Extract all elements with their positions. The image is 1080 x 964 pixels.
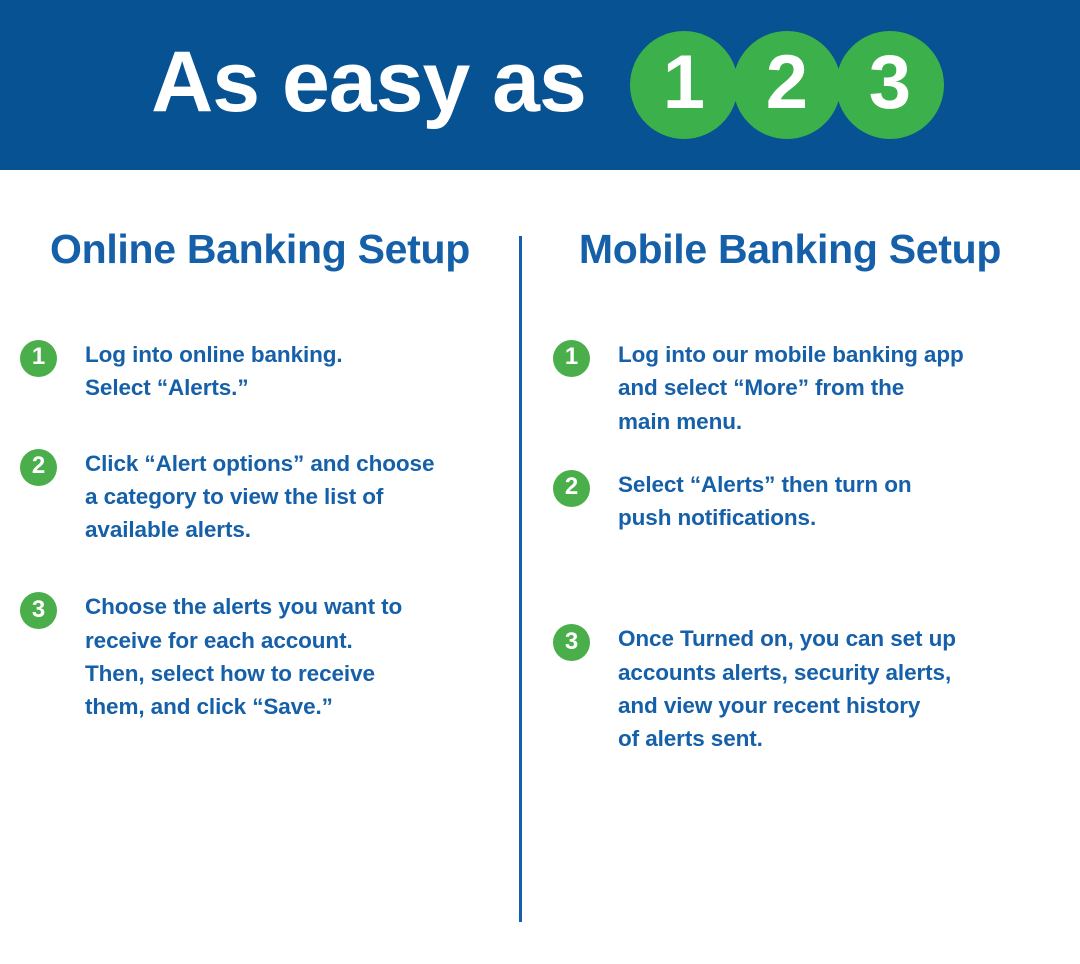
step-number-label: 2 <box>32 454 45 478</box>
step-item: 3 Once Turned on, you can set up account… <box>540 622 1040 755</box>
step-text: Log into our mobile banking app and sele… <box>618 338 1040 438</box>
online-banking-column: Online Banking Setup 1 Log into online b… <box>10 170 510 758</box>
mobile-banking-heading: Mobile Banking Setup <box>540 170 1040 274</box>
header-content: As easy as 1 2 3 <box>151 31 939 139</box>
header-banner: As easy as 1 2 3 <box>0 0 1080 170</box>
online-banking-heading: Online Banking Setup <box>10 170 510 274</box>
column-divider <box>519 236 522 922</box>
step-number-label: 1 <box>565 345 578 369</box>
page-title: As easy as <box>151 39 586 125</box>
step-item: 1 Log into our mobile banking app and se… <box>540 338 1040 438</box>
step-number-badge: 1 <box>553 340 590 377</box>
header-badge-3: 3 <box>836 31 944 139</box>
step-number-badge: 2 <box>20 449 57 486</box>
header-badge-1: 1 <box>630 31 738 139</box>
header-badge-2: 2 <box>733 31 841 139</box>
step-text: Log into online banking. Select “Alerts.… <box>85 338 510 405</box>
step-item: 1 Log into online banking. Select “Alert… <box>10 338 510 405</box>
step-number-label: 3 <box>32 598 45 622</box>
header-badge-2-label: 2 <box>766 45 808 121</box>
header-badge-3-label: 3 <box>869 45 911 121</box>
step-number-label: 3 <box>565 630 578 654</box>
step-text: Once Turned on, you can set up accounts … <box>618 622 1040 755</box>
step-text: Choose the alerts you want to receive fo… <box>85 590 510 723</box>
step-number-badge: 1 <box>20 340 57 377</box>
header-badge-1-label: 1 <box>663 45 705 121</box>
mobile-banking-steps: 1 Log into our mobile banking app and se… <box>540 338 1040 756</box>
step-number-badge: 3 <box>20 592 57 629</box>
step-item: 2 Click “Alert options” and choose a cat… <box>10 447 510 547</box>
step-number-badge: 2 <box>553 470 590 507</box>
main-content: Online Banking Setup 1 Log into online b… <box>0 170 1080 964</box>
step-number-badge: 3 <box>553 624 590 661</box>
step-number-label: 1 <box>32 345 45 369</box>
step-item: 2 Select “Alerts” then turn on push noti… <box>540 468 1040 535</box>
step-text: Click “Alert options” and choose a categ… <box>85 447 510 547</box>
step-number-label: 2 <box>565 475 578 499</box>
step-item: 3 Choose the alerts you want to receive … <box>10 590 510 723</box>
step-text: Select “Alerts” then turn on push notifi… <box>618 468 1040 535</box>
header-number-badges: 1 2 3 <box>630 31 939 139</box>
mobile-banking-column: Mobile Banking Setup 1 Log into our mobi… <box>540 170 1040 790</box>
online-banking-steps: 1 Log into online banking. Select “Alert… <box>10 338 510 724</box>
